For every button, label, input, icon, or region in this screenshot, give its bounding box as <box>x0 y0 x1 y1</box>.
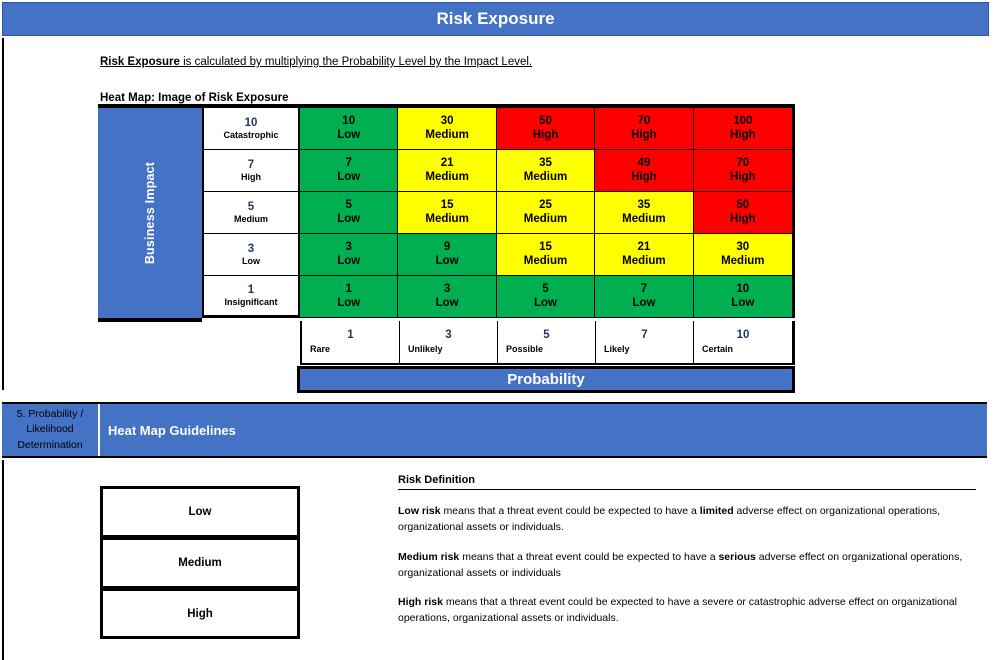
heatmap-cell[interactable]: 70High <box>595 108 693 150</box>
heatmap-cell-severity: High <box>631 129 657 143</box>
heatmap-cell-severity: Low <box>436 255 459 269</box>
heatmap-caption: Heat Map: Image of Risk Exposure <box>100 92 289 104</box>
impact-level-value: 3 <box>248 243 254 256</box>
legend-box-medium[interactable]: Medium <box>100 537 300 588</box>
heatmap-cell-value: 30 <box>441 115 454 129</box>
page-title: Risk Exposure <box>436 9 554 29</box>
impact-level-label: Insignificant <box>224 297 277 307</box>
heatmap-cell-value: 1 <box>345 283 351 297</box>
section-tag-line-2: Likelihood <box>26 422 73 437</box>
heatmap-cell-severity: Low <box>632 297 655 311</box>
heatmap-cell-value: 7 <box>345 157 351 171</box>
probability-level-row: 1 Rare 3 Unlikely 5 Possible 7 Likely 10… <box>300 321 795 365</box>
intro-bold-lead: Risk Exposure <box>100 56 180 68</box>
heatmap-grid: 10Low 30Medium 50High 70High 100High 7Lo… <box>300 108 795 318</box>
heatmap-cell-value: 25 <box>539 199 552 213</box>
risk-definition-title: Risk Definition <box>398 474 976 490</box>
heatmap-cell-value: 15 <box>539 241 552 255</box>
heatmap-cell-severity: Medium <box>425 171 468 185</box>
heatmap-cell-value: 35 <box>637 199 650 213</box>
legend-box-low[interactable]: Low <box>100 486 300 537</box>
heatmap-cell[interactable]: 7Low <box>300 150 398 192</box>
heatmap-cell[interactable]: 10Low <box>300 108 398 150</box>
heatmap-cell[interactable]: 50High <box>694 192 792 234</box>
heatmap-cell[interactable]: 10Low <box>694 276 792 318</box>
page-left-border <box>2 38 4 390</box>
heatmap-cell[interactable]: 3Low <box>300 234 398 276</box>
heatmap-cell-severity: High <box>631 171 657 185</box>
heatmap-cell-severity: High <box>533 129 559 143</box>
heatmap-cell-severity: Low <box>337 297 360 311</box>
heatmap-cell[interactable]: 21Medium <box>595 234 693 276</box>
probability-level-value: 3 <box>400 329 497 341</box>
impact-level-value: 7 <box>248 159 254 172</box>
heatmap-cell-value: 9 <box>444 241 450 255</box>
probability-level-label: Unlikely <box>408 344 443 354</box>
probability-level-value: 10 <box>694 329 792 341</box>
risk-definition-medium-emphasis: serious <box>718 551 755 563</box>
heatmap-cell-value: 21 <box>441 157 454 171</box>
heatmap-cell-severity: Low <box>731 297 754 311</box>
impact-level-label: Low <box>242 256 260 266</box>
probability-level-cell: 7 Likely <box>596 321 694 363</box>
impact-level-cell: 5 Medium <box>204 192 298 234</box>
risk-definition-low-emphasis: limited <box>700 505 734 517</box>
heatmap-cell-severity: Medium <box>425 213 468 227</box>
business-impact-axis-label: Business Impact <box>98 108 202 318</box>
guidelines-title: Heat Map Guidelines <box>100 404 987 456</box>
probability-level-cell: 3 Unlikely <box>400 321 498 363</box>
probability-level-cell: 10 Certain <box>694 321 792 363</box>
heatmap-cell-severity: Medium <box>524 255 567 269</box>
intro-sentence: Risk Exposure is calculated by multiplyi… <box>100 56 532 68</box>
risk-definition-medium-lead: Medium risk <box>398 551 459 563</box>
heatmap-cell[interactable]: 7Low <box>595 276 693 318</box>
heatmap-cell-severity: Medium <box>524 171 567 185</box>
heatmap-cell-value: 70 <box>637 115 650 129</box>
heatmap-cell-value: 49 <box>637 157 650 171</box>
heatmap-cell[interactable]: 15Medium <box>497 234 595 276</box>
impact-level-cell: 3 Low <box>204 234 298 276</box>
impact-level-value: 5 <box>248 201 254 214</box>
intro-rest: is calculated by multiplying the Probabi… <box>180 56 532 68</box>
heatmap-cell-severity: High <box>730 129 756 143</box>
probability-level-label: Rare <box>310 344 330 354</box>
section-tag-line-3: Determination <box>17 438 82 453</box>
heatmap-cell[interactable]: 3Low <box>398 276 496 318</box>
heatmap-cell[interactable]: 25Medium <box>497 192 595 234</box>
business-impact-axis: Business Impact <box>98 108 202 322</box>
risk-heatmap: Business Impact 10 Catastrophic 7 High 5… <box>98 108 795 387</box>
page-left-border-lower <box>2 460 4 660</box>
impact-level-cell: 1 Insignificant <box>204 276 298 318</box>
impact-level-label: Catastrophic <box>223 130 278 140</box>
risk-definition-medium: Medium risk means that a threat event co… <box>398 549 978 582</box>
heatmap-cell-value: 35 <box>539 157 552 171</box>
risk-definition-low: Low risk means that a threat event could… <box>398 503 978 536</box>
heatmap-cell-value: 100 <box>733 115 752 129</box>
heatmap-cell-severity: Low <box>337 255 360 269</box>
heatmap-cell[interactable]: 9Low <box>398 234 496 276</box>
impact-level-value: 1 <box>248 284 254 297</box>
section-tag-line-1: 5. Probability / <box>17 407 84 422</box>
heatmap-cell[interactable]: 1Low <box>300 276 398 318</box>
heatmap-cell-value: 5 <box>542 283 548 297</box>
guidelines-band: 5. Probability / Likelihood Determinatio… <box>2 402 987 458</box>
risk-exposure-page: Risk Exposure Risk Exposure is calculate… <box>0 0 993 660</box>
probability-level-label: Possible <box>506 344 543 354</box>
heatmap-cell-value: 50 <box>736 199 749 213</box>
risk-definition-high-mid: means that a threat event could be expec… <box>398 596 957 624</box>
heatmap-cell[interactable]: 70High <box>694 150 792 192</box>
heatmap-cell-value: 21 <box>637 241 650 255</box>
heatmap-cell-severity: High <box>730 213 756 227</box>
heatmap-cell-value: 70 <box>736 157 749 171</box>
heatmap-cell[interactable]: 21Medium <box>398 150 496 192</box>
heatmap-cell-severity: Low <box>337 213 360 227</box>
heatmap-cell[interactable]: 100High <box>694 108 792 150</box>
heatmap-cell-severity: Low <box>337 171 360 185</box>
heatmap-cell[interactable]: 50High <box>497 108 595 150</box>
probability-axis: Probability <box>297 366 795 393</box>
heatmap-cell-value: 15 <box>441 199 454 213</box>
risk-definition-low-lead: Low risk <box>398 505 441 517</box>
heatmap-cell-severity: Medium <box>622 255 665 269</box>
heatmap-cell-value: 3 <box>345 241 351 255</box>
heatmap-cell[interactable]: 5Low <box>300 192 398 234</box>
heatmap-cell[interactable]: 5Low <box>497 276 595 318</box>
heatmap-cell-value: 50 <box>539 115 552 129</box>
heatmap-cell[interactable]: 30Medium <box>398 108 496 150</box>
risk-definition-low-mid: means that a threat event could be expec… <box>441 505 700 517</box>
heatmap-cell[interactable]: 35Medium <box>497 150 595 192</box>
heatmap-cell-severity: Low <box>436 297 459 311</box>
heatmap-cell-value: 10 <box>736 283 749 297</box>
impact-level-value: 10 <box>245 117 258 130</box>
heatmap-cell-severity: Medium <box>425 129 468 143</box>
impact-level-cell: 10 Catastrophic <box>204 108 298 150</box>
impact-level-label: Medium <box>234 214 268 224</box>
probability-level-cell: 5 Possible <box>498 321 596 363</box>
heatmap-cell-severity: High <box>730 171 756 185</box>
risk-definitions: Risk Definition Low risk means that a th… <box>398 474 978 627</box>
heatmap-cell-severity: Low <box>534 297 557 311</box>
heatmap-cell[interactable]: 30Medium <box>694 234 792 276</box>
heatmap-cell-value: 3 <box>444 283 450 297</box>
probability-level-label: Likely <box>604 344 630 354</box>
page-title-bar: Risk Exposure <box>2 2 989 36</box>
heatmap-cell-severity: Low <box>337 129 360 143</box>
legend-box-high[interactable]: High <box>100 588 300 639</box>
risk-definition-high-lead: High risk <box>398 596 443 608</box>
heatmap-cell-value: 7 <box>641 283 647 297</box>
heatmap-cell[interactable]: 49High <box>595 150 693 192</box>
section-tag: 5. Probability / Likelihood Determinatio… <box>2 404 100 456</box>
heatmap-cell-severity: Medium <box>524 213 567 227</box>
impact-level-label: High <box>241 172 261 182</box>
heatmap-cell[interactable]: 15Medium <box>398 192 496 234</box>
probability-level-label: Certain <box>702 344 733 354</box>
impact-level-column: 10 Catastrophic 7 High 5 Medium 3 Low 1 … <box>202 108 300 318</box>
risk-level-legend: Low Medium High <box>100 486 300 639</box>
risk-definition-medium-mid: means that a threat event could be expec… <box>459 551 718 563</box>
heatmap-cell[interactable]: 35Medium <box>595 192 693 234</box>
risk-definition-high: High risk means that a threat event coul… <box>398 594 978 627</box>
probability-level-value: 1 <box>302 329 399 341</box>
heatmap-cell-value: 10 <box>342 115 355 129</box>
probability-level-value: 7 <box>596 329 693 341</box>
heatmap-cell-severity: Medium <box>622 213 665 227</box>
heatmap-cell-severity: Medium <box>721 255 764 269</box>
heatmap-cell-value: 30 <box>736 241 749 255</box>
probability-axis-label: Probability <box>507 371 585 388</box>
heatmap-cell-value: 5 <box>345 199 351 213</box>
probability-level-value: 5 <box>498 329 595 341</box>
impact-level-cell: 7 High <box>204 150 298 192</box>
probability-level-cell: 1 Rare <box>302 321 400 363</box>
